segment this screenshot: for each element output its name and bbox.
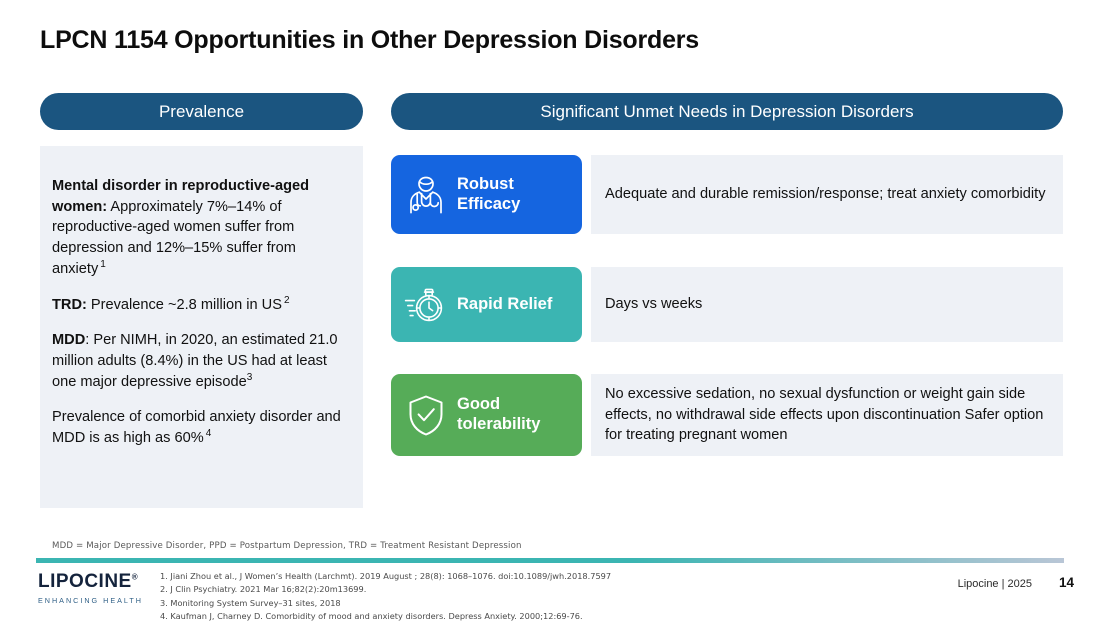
footer-divider [36,558,1064,563]
card-label-rapid-relief: Rapid Relief [391,267,582,342]
stopwatch-speed-icon [397,283,455,327]
card-label-robust-efficacy: Robust Efficacy [391,155,582,234]
prevalence-item-reproductive-women: Mental disorder in reproductive-aged wom… [52,176,343,280]
prevalence-item-ref: 2 [284,295,290,306]
card-label-line1: Good [457,395,540,415]
prevalence-item-lead: TRD: [52,297,87,313]
card-label-text: Good tolerability [457,395,540,435]
card-label-text: Rapid Relief [457,295,552,315]
card-label-line1: Robust [457,175,520,195]
logo-tagline: ENHANCING HEALTH [38,596,164,605]
abbreviations-note: MDD = Major Depressive Disorder, PPD = P… [52,541,522,551]
prevalence-item-text: Prevalence of comorbid anxiety disorder … [52,409,341,446]
card-label-line1: Rapid Relief [457,295,552,315]
logo-wordmark-text: LIPOCINE [38,571,132,592]
prevalence-item-text: Prevalence ~2.8 million in US [87,297,282,313]
lipocine-logo: LIPOCINE® ENHANCING HEALTH [38,572,164,605]
reference-item: 3. Monitoring System Survey–31 sites, 20… [160,597,611,610]
references-list: 1. Jiani Zhou et al., J Women’s Health (… [160,570,611,623]
prevalence-item-comorbid: Prevalence of comorbid anxiety disorder … [52,407,343,448]
section-header-unmet-needs-label: Significant Unmet Needs in Depression Di… [540,102,913,122]
section-header-prevalence-label: Prevalence [159,102,244,122]
logo-wordmark: LIPOCINE® [38,572,138,591]
card-body: No excessive sedation, no sexual dysfunc… [591,374,1063,456]
shield-check-icon [397,391,455,439]
section-header-prevalence: Prevalence [40,93,363,130]
card-body: Adequate and durable remission/response;… [591,155,1063,234]
prevalence-item-ref: 1 [100,259,106,270]
prevalence-item-ref: 3 [247,372,253,383]
card-label-text: Robust Efficacy [457,175,520,215]
card-body: Days vs weeks [591,267,1063,342]
prevalence-panel: Mental disorder in reproductive-aged wom… [40,146,363,508]
prevalence-content: Mental disorder in reproductive-aged wom… [40,146,363,449]
logo-trademark: ® [132,573,138,582]
slide-root: LPCN 1154 Opportunities in Other Depress… [0,0,1100,619]
card-label-good-tolerability: Good tolerability [391,374,582,456]
card-label-line2: Efficacy [457,195,520,215]
card-body-text: No excessive sedation, no sexual dysfunc… [591,384,1063,445]
reference-item: 2. J Clin Psychiatry. 2021 Mar 16;82(2):… [160,583,611,596]
prevalence-item-lead: MDD [52,332,85,348]
footer-credit: Lipocine | 2025 [958,578,1032,590]
prevalence-item-text: : Per NIMH, in 2020, an estimated 21.0 m… [52,332,338,389]
doctor-stethoscope-icon [397,172,455,218]
section-header-unmet-needs: Significant Unmet Needs in Depression Di… [391,93,1063,130]
reference-item: 4. Kaufman J, Charney D. Comorbidity of … [160,610,611,623]
page-number: 14 [1059,575,1074,590]
prevalence-item-mdd: MDD: Per NIMH, in 2020, an estimated 21.… [52,330,343,392]
prevalence-item-trd: TRD: Prevalence ~2.8 million in US2 [52,295,343,316]
card-body-text: Adequate and durable remission/response;… [591,184,1060,204]
reference-item: 1. Jiani Zhou et al., J Women’s Health (… [160,570,611,583]
card-body-text: Days vs weeks [591,294,716,314]
page-title: LPCN 1154 Opportunities in Other Depress… [40,26,699,55]
card-label-line2: tolerability [457,415,540,435]
prevalence-item-ref: 4 [206,428,212,439]
